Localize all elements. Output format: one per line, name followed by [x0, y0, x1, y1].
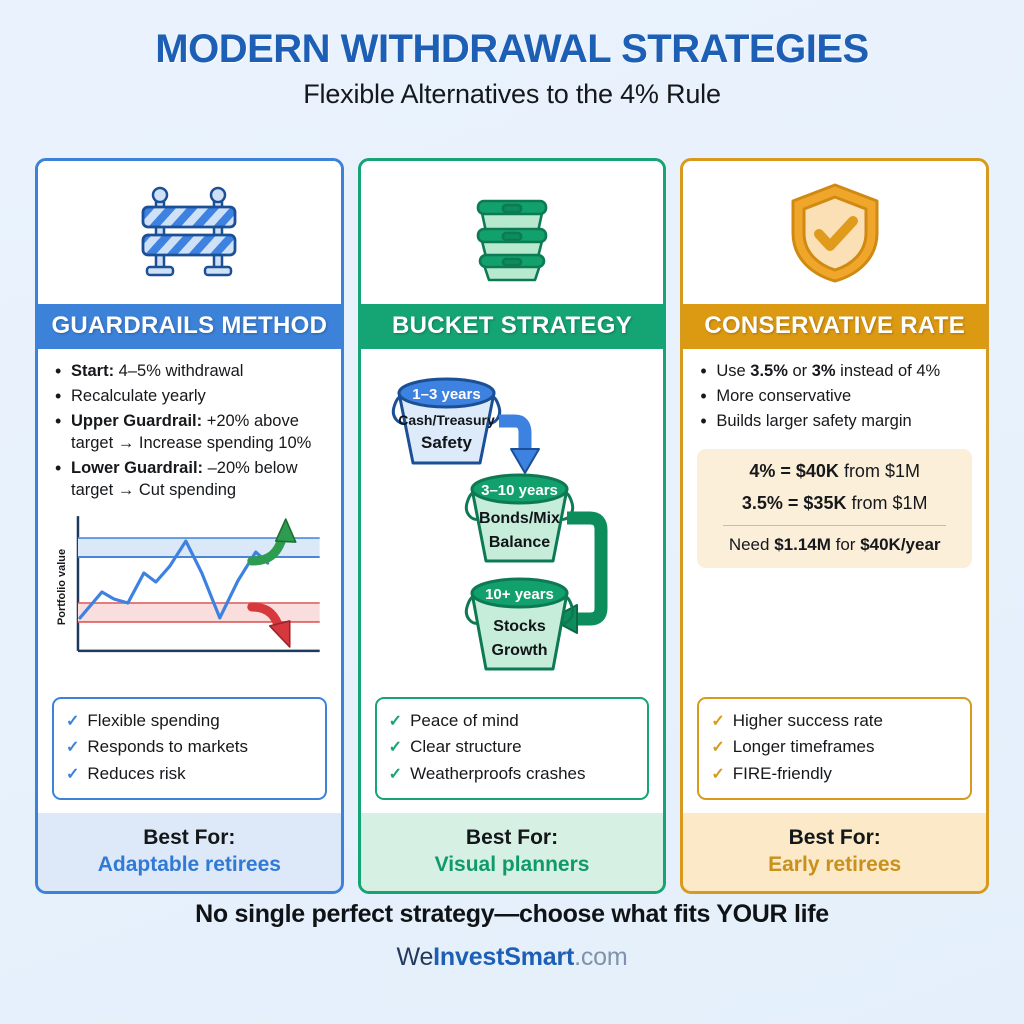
shield-check-icon-wrap [683, 161, 986, 304]
footer-tagline: No single perfect strategy—choose what f… [0, 900, 1024, 929]
card-body-guardrails: Start: 4–5% withdrawal Recalculate yearl… [38, 349, 341, 813]
bullet-item: Recalculate yearly [52, 386, 327, 408]
best-for-label: Best For: [365, 826, 660, 850]
bullet-item: More conservative [697, 386, 972, 408]
bucket-arrow-1 [499, 421, 539, 473]
brand-tld: .com [574, 943, 627, 971]
bucket-flow-svg: 1–3 years Cash/Treasury Safety [375, 363, 667, 681]
bucket-3-line1: Stocks [493, 618, 546, 635]
bucket-3-years: 10+ years [485, 586, 554, 603]
benefits-box-conservative: ✓Higher success rate ✓Longer timeframes … [697, 697, 972, 800]
benefits-box-bucket: ✓Peace of mind ✓Clear structure ✓Weather… [375, 697, 650, 800]
check-icon: ✓ [711, 763, 724, 788]
bullet-item: Upper Guardrail: +20% above target → Inc… [52, 411, 327, 455]
bullet-item: Start: 4–5% withdrawal [52, 361, 327, 383]
card-heading-conservative: CONSERVATIVE RATE [683, 304, 986, 349]
stacked-containers-icon [462, 183, 562, 283]
check-icon: ✓ [389, 736, 402, 761]
card-heading-guardrails: GUARDRAILS METHOD [38, 304, 341, 349]
best-for-label: Best For: [687, 826, 982, 850]
withdrawal-math-box: 4% = $40K from $1M 3.5% = $35K from $1M … [697, 449, 972, 568]
brand-smart: Smart [504, 943, 574, 971]
check-icon: ✓ [389, 710, 402, 735]
page-subtitle: Flexible Alternatives to the 4% Rule [0, 79, 1024, 110]
benefit-label: Responds to markets [87, 734, 248, 760]
math-line-1: 4% = $40K from $1M [707, 461, 962, 482]
guardrails-chart: Portfolio value [52, 511, 327, 697]
bucket-2-line1: Bonds/Mix [479, 510, 560, 527]
check-icon: ✓ [66, 710, 79, 735]
best-for-value: Visual planners [365, 853, 660, 877]
bullet-list-conservative: Use 3.5% or 3% instead of 4% More conser… [697, 361, 972, 436]
bucket-2-years: 3–10 years [481, 482, 558, 499]
benefit-item: ✓Reduces risk [66, 761, 313, 788]
best-for-guardrails: Best For: Adaptable retirees [38, 813, 341, 891]
stacked-containers-icon-wrap [361, 161, 664, 304]
check-icon: ✓ [66, 736, 79, 761]
bucket-3-stocks: 10+ years Stocks Growth [466, 579, 572, 669]
card-heading-bucket: BUCKET STRATEGY [361, 304, 664, 349]
brand-wordmark[interactable]: WeInvestSmart.com [0, 943, 1024, 972]
bullet-item: Use 3.5% or 3% instead of 4% [697, 361, 972, 383]
benefit-label: FIRE-friendly [733, 761, 832, 787]
benefit-label: Flexible spending [87, 708, 219, 734]
benefit-label: Longer timeframes [733, 734, 875, 760]
card-body-bucket: 1–3 years Cash/Treasury Safety [361, 349, 664, 813]
check-icon: ✓ [66, 763, 79, 788]
math-line-3: Need $1.14M for $40K/year [707, 535, 962, 555]
brand-we: We [397, 943, 434, 971]
bucket-diagram: 1–3 years Cash/Treasury Safety [375, 363, 650, 681]
bucket-1-cash: 1–3 years Cash/Treasury Safety [393, 379, 499, 463]
card-bucket-strategy[interactable]: BUCKET STRATEGY 1–3 years Cash/Treasury … [358, 158, 667, 894]
best-for-bucket: Best For: Visual planners [361, 813, 664, 891]
check-icon: ✓ [389, 763, 402, 788]
benefit-item: ✓Peace of mind [389, 708, 636, 735]
bucket-3-line2: Growth [491, 642, 547, 659]
page-title: MODERN WITHDRAWAL STRATEGIES [0, 28, 1024, 70]
benefit-item: ✓Longer timeframes [711, 734, 958, 761]
bullet-item: Builds larger safety margin [697, 411, 972, 433]
benefit-item: ✓FIRE-friendly [711, 761, 958, 788]
best-for-conservative: Best For: Early retirees [683, 813, 986, 891]
bucket-1-years: 1–3 years [412, 386, 480, 403]
page-footer: No single perfect strategy—choose what f… [0, 900, 1024, 972]
bullet-list-guardrails: Start: 4–5% withdrawal Recalculate yearl… [52, 361, 327, 505]
benefit-label: Higher success rate [733, 708, 883, 734]
benefit-item: ✓Flexible spending [66, 708, 313, 735]
card-guardrails-method[interactable]: GUARDRAILS METHOD Start: 4–5% withdrawal… [35, 158, 344, 894]
bucket-1-line1: Cash/Treasury [398, 412, 495, 428]
benefit-label: Weatherproofs crashes [410, 761, 585, 787]
strategy-columns: GUARDRAILS METHOD Start: 4–5% withdrawal… [35, 158, 989, 894]
benefit-item: ✓Clear structure [389, 734, 636, 761]
best-for-value: Adaptable retirees [42, 853, 337, 877]
math-divider [723, 525, 946, 526]
benefit-item: ✓Responds to markets [66, 734, 313, 761]
bucket-1-line2: Safety [421, 433, 473, 452]
bucket-2-line2: Balance [488, 534, 549, 551]
portfolio-value-chart: Portfolio value [52, 511, 327, 663]
barricade-icon [134, 183, 244, 283]
benefit-item: ✓Higher success rate [711, 708, 958, 735]
benefit-item: ✓Weatherproofs crashes [389, 761, 636, 788]
brand-invest: Invest [433, 943, 504, 971]
bucket-2-bonds: 3–10 years Bonds/Mix Balance [466, 475, 572, 561]
best-for-value: Early retirees [687, 853, 982, 877]
check-icon: ✓ [711, 710, 724, 735]
benefit-label: Reduces risk [87, 761, 185, 787]
shield-check-icon [787, 181, 883, 285]
benefit-label: Clear structure [410, 734, 521, 760]
bullet-item: Lower Guardrail: –20% below target → Cut… [52, 458, 327, 502]
card-body-conservative: Use 3.5% or 3% instead of 4% More conser… [683, 349, 986, 813]
card-conservative-rate[interactable]: CONSERVATIVE RATE Use 3.5% or 3% instead… [680, 158, 989, 894]
barricade-icon-wrap [38, 161, 341, 304]
benefits-box-guardrails: ✓Flexible spending ✓Responds to markets … [52, 697, 327, 800]
chart-ylabel: Portfolio value [56, 549, 68, 625]
math-line-2: 3.5% = $35K from $1M [707, 493, 962, 514]
check-icon: ✓ [711, 736, 724, 761]
page-header: MODERN WITHDRAWAL STRATEGIES Flexible Al… [0, 0, 1024, 110]
benefit-label: Peace of mind [410, 708, 519, 734]
best-for-label: Best For: [42, 826, 337, 850]
